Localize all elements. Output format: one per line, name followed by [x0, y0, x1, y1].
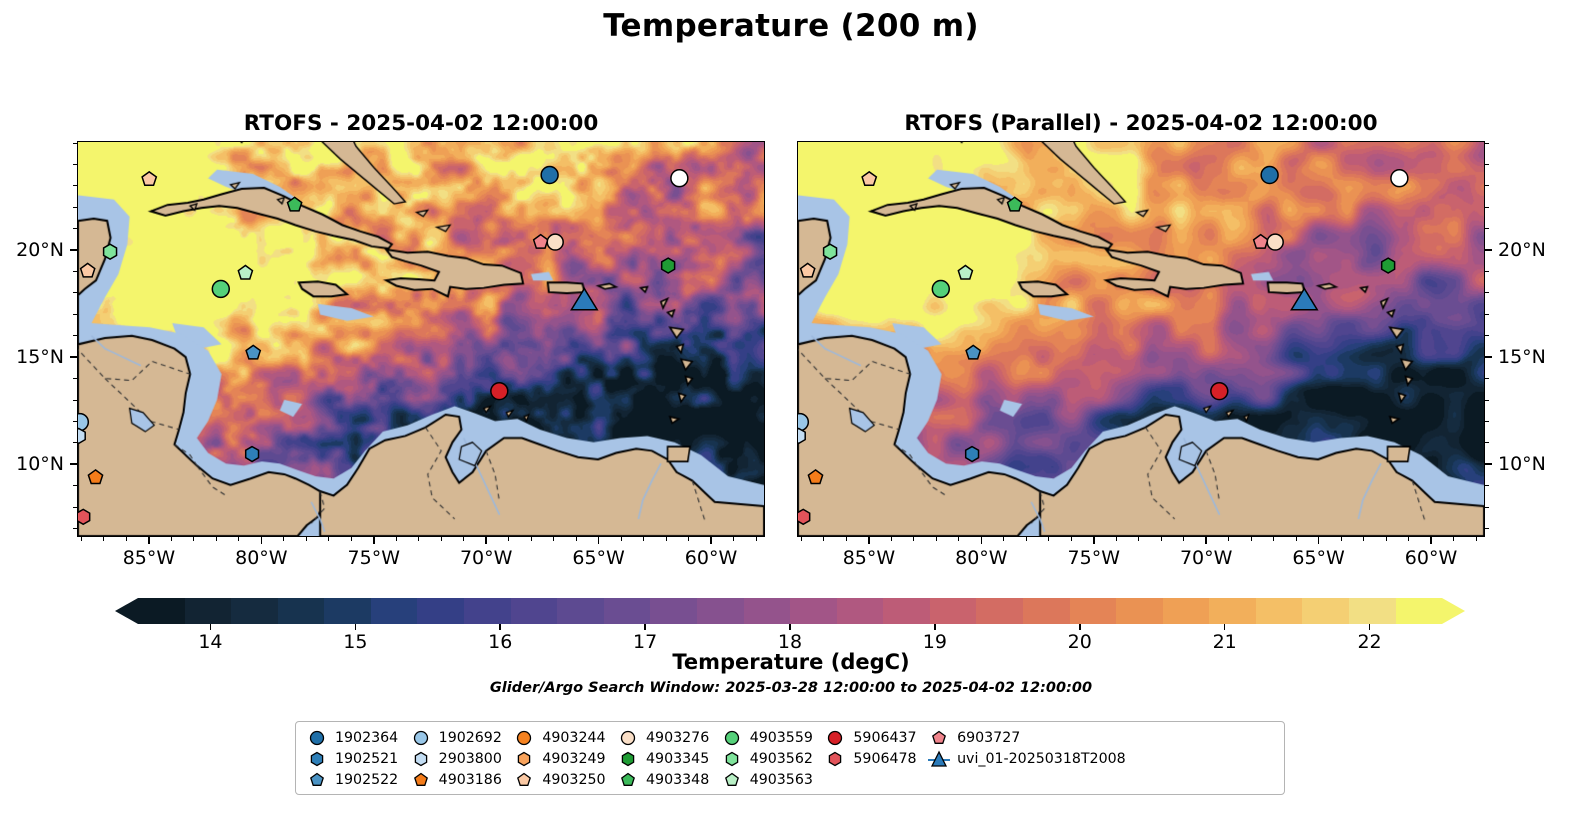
colorbar-segment — [976, 598, 1023, 624]
x-minor-tick — [958, 537, 959, 541]
colorbar-segment — [1023, 598, 1070, 624]
x-minor-tick — [688, 537, 689, 541]
marker-uvi_01-20250318T2008[interactable] — [571, 289, 597, 310]
legend-marker-circle-icon — [617, 728, 639, 747]
legend-label: 4903562 — [750, 751, 813, 767]
y-tick — [70, 463, 77, 465]
marker-6903727[interactable] — [534, 235, 548, 249]
x-tick — [981, 537, 983, 544]
marker-4903563[interactable] — [238, 265, 252, 279]
marker-4903276[interactable] — [671, 170, 688, 187]
legend-marker-hexagon-icon — [513, 749, 535, 768]
x-minor-tick — [103, 537, 104, 541]
y-minor-tick — [1485, 314, 1489, 315]
legend-item-4903244[interactable]: 4903244 — [513, 727, 617, 748]
x-minor-tick — [418, 537, 419, 541]
y-minor-tick — [1485, 228, 1489, 229]
y-minor-tick — [73, 164, 77, 165]
x-minor-tick — [1003, 537, 1004, 541]
colorbar-segment — [557, 598, 604, 624]
colorbar-segment — [1396, 598, 1443, 624]
colorbar-segment — [231, 598, 278, 624]
y-minor-tick — [73, 185, 77, 186]
colorbar-segment — [1070, 598, 1117, 624]
colorbar-segment — [650, 598, 697, 624]
marker-4903186[interactable] — [88, 470, 102, 484]
x-tick-label: 80°W — [955, 547, 1007, 569]
legend-item-5906437[interactable]: 5906437 — [824, 727, 928, 748]
legend-label: 5906478 — [853, 751, 916, 767]
colorbar-segment — [790, 598, 837, 624]
y-tick-label: 20°N — [16, 239, 64, 261]
x-minor-tick — [576, 537, 577, 541]
marker-4903348[interactable] — [1007, 197, 1021, 211]
y-minor-tick — [1485, 442, 1489, 443]
y-tick — [70, 356, 77, 358]
x-minor-tick — [126, 537, 127, 541]
x-tick — [710, 537, 712, 544]
colorbar-segment — [371, 598, 418, 624]
colorbar-segment — [1302, 598, 1349, 624]
legend-marker-circle-icon — [721, 728, 743, 747]
x-tick-label: 70°W — [1180, 547, 1232, 569]
x-tick — [148, 537, 150, 544]
x-tick-label: 75°W — [1068, 547, 1120, 569]
legend-item-4903348[interactable]: 4903348 — [617, 769, 721, 790]
colorbar-tick — [499, 624, 501, 630]
colorbar-segment — [744, 598, 791, 624]
legend-label: 5906437 — [853, 730, 916, 746]
y-minor-tick — [73, 335, 77, 336]
legend-marker-circle-icon — [410, 728, 432, 747]
colorbar-tick — [355, 624, 357, 630]
y-tick — [1485, 463, 1492, 465]
y-minor-tick — [73, 528, 77, 529]
colorbar-segment — [324, 598, 371, 624]
y-minor-tick — [73, 228, 77, 229]
marker-4903250b[interactable] — [81, 263, 95, 277]
x-minor-tick — [1408, 537, 1409, 541]
legend-marker-pentagon-icon — [410, 770, 432, 789]
y-minor-tick — [73, 507, 77, 508]
x-tick-label: 70°W — [460, 547, 512, 569]
y-minor-tick — [1485, 528, 1489, 529]
x-minor-tick — [936, 537, 937, 541]
legend-marker-glider-triangle-icon — [928, 749, 950, 768]
y-minor-tick — [73, 292, 77, 293]
marker-4903559[interactable] — [932, 280, 949, 297]
x-minor-tick — [756, 537, 757, 541]
x-tick-label: 60°W — [685, 547, 737, 569]
marker-1902692[interactable] — [78, 414, 88, 431]
y-tick — [1485, 356, 1492, 358]
y-minor-tick — [73, 400, 77, 401]
x-minor-tick — [1183, 537, 1184, 541]
x-minor-tick — [1026, 537, 1027, 541]
legend-label: 4903276 — [646, 730, 709, 746]
x-tick — [1093, 537, 1095, 544]
x-minor-tick — [1116, 537, 1117, 541]
legend-item-4903562[interactable]: 4903562 — [721, 748, 825, 769]
colorbar-extend-low — [115, 598, 138, 624]
colorbar-segment — [511, 598, 558, 624]
y-tick — [70, 249, 77, 251]
x-minor-tick — [553, 537, 554, 541]
y-minor-tick — [1485, 335, 1489, 336]
legend-marker-hexagon-icon — [617, 749, 639, 768]
y-minor-tick — [1485, 185, 1489, 186]
y-tick-label: 10°N — [1498, 453, 1546, 475]
x-minor-tick — [238, 537, 239, 541]
x-tick — [485, 537, 487, 544]
marker-5906437[interactable] — [1211, 383, 1228, 400]
marker-5906437[interactable] — [491, 383, 508, 400]
legend-item-1902521[interactable]: 1902521 — [306, 748, 410, 769]
marker-4903563[interactable] — [958, 265, 972, 279]
legend-marker-circle-icon — [306, 728, 328, 747]
legend-item-6903727[interactable]: 6903727 — [928, 727, 1126, 748]
legend-marker-pentagon-icon — [617, 770, 639, 789]
legend-label: 4903559 — [750, 730, 813, 746]
y-minor-tick — [1485, 271, 1489, 272]
marker-4903345[interactable] — [662, 258, 675, 273]
colorbar-segment — [464, 598, 511, 624]
colorbar-tick — [1369, 624, 1371, 630]
colorbar-segment — [278, 598, 325, 624]
legend-label: 1902521 — [335, 751, 398, 767]
x-tick — [1318, 537, 1320, 544]
map-panel-rtofs-parallel[interactable] — [797, 141, 1485, 537]
y-minor-tick — [1485, 378, 1489, 379]
legend-marker-pentagon-icon — [721, 770, 743, 789]
marker-4903276b[interactable] — [1267, 234, 1283, 250]
legend-item-1902364[interactable]: 1902364 — [306, 727, 410, 748]
marker-4903348[interactable] — [287, 197, 301, 211]
legend-label: uvi_01-20250318T2008 — [957, 751, 1126, 767]
x-minor-tick — [351, 537, 352, 541]
figure-canvas: Temperature (200 m) RTOFS - 2025-04-02 1… — [0, 0, 1582, 827]
legend-label: 4903250 — [542, 772, 605, 788]
marker-4903559[interactable] — [212, 280, 229, 297]
y-tick — [1485, 249, 1492, 251]
y-minor-tick — [73, 442, 77, 443]
x-tick-label: 80°W — [235, 547, 287, 569]
colorbar-gradient — [138, 598, 1442, 624]
colorbar-segment — [185, 598, 232, 624]
legend-marker-hexagon-icon — [410, 749, 432, 768]
legend-marker-circle-icon — [513, 728, 535, 747]
x-minor-tick — [193, 537, 194, 541]
legend-marker-pentagon-icon — [513, 770, 535, 789]
colorbar-segment — [417, 598, 464, 624]
marker-4903186[interactable] — [808, 470, 822, 484]
x-minor-tick — [1363, 537, 1364, 541]
marker-overlay-rtofs — [78, 142, 764, 536]
marker-overlay-rtofs-parallel — [798, 142, 1484, 536]
y-minor-tick — [1485, 292, 1489, 293]
legend-item-4903249[interactable]: 4903249 — [513, 748, 617, 769]
x-minor-tick — [283, 537, 284, 541]
legend-item-5906478[interactable]: 5906478 — [824, 748, 928, 769]
x-minor-tick — [891, 537, 892, 541]
y-tick-label: 15°N — [16, 346, 64, 368]
marker-6903727[interactable] — [1254, 235, 1268, 249]
marker-1902522[interactable] — [966, 345, 980, 359]
colorbar-segment — [930, 598, 977, 624]
y-minor-tick — [1485, 143, 1489, 144]
legend-marker-hexagon-icon — [721, 749, 743, 768]
colorbar-segment — [837, 598, 884, 624]
colorbar-extend-high — [1442, 598, 1465, 624]
legend-label: 4903563 — [750, 772, 813, 788]
x-minor-tick — [1453, 537, 1454, 541]
legend-label: 4903186 — [439, 772, 502, 788]
panel-title-rtofs-parallel: RTOFS (Parallel) - 2025-04-02 12:00:00 — [797, 111, 1485, 136]
legend-grid: 1902364190269249032444903276490355959064… — [306, 727, 1276, 790]
legend-marker-circle-icon — [824, 728, 846, 747]
marker-4903562[interactable] — [824, 244, 837, 259]
marker-4903250[interactable] — [142, 172, 156, 185]
colorbar-tick — [210, 624, 212, 630]
colorbar-segment — [1349, 598, 1396, 624]
colorbar[interactable] — [115, 598, 1465, 624]
colorbar-segment — [604, 598, 651, 624]
legend-marker-hexagon-icon — [306, 749, 328, 768]
x-minor-tick — [846, 537, 847, 541]
x-minor-tick — [1341, 537, 1342, 541]
legend-item-4903250[interactable]: 4903250 — [513, 769, 617, 790]
x-minor-tick — [1048, 537, 1049, 541]
x-minor-tick — [463, 537, 464, 541]
x-minor-tick — [1296, 537, 1297, 541]
x-minor-tick — [621, 537, 622, 541]
marker-2903800[interactable] — [798, 428, 805, 443]
y-minor-tick — [73, 378, 77, 379]
x-minor-tick — [1161, 537, 1162, 541]
search-window-note: Glider/Argo Search Window: 2025-03-28 12… — [0, 680, 1582, 696]
x-minor-tick — [328, 537, 329, 541]
marker-1902692[interactable] — [798, 414, 808, 431]
legend-label: 4903348 — [646, 772, 709, 788]
legend-label: 1902692 — [439, 730, 502, 746]
x-tick-label: 85°W — [843, 547, 895, 569]
marker-1902364[interactable] — [1261, 167, 1278, 184]
x-minor-tick — [823, 537, 824, 541]
y-minor-tick — [1485, 421, 1489, 422]
x-minor-tick — [1476, 537, 1477, 541]
marker-5906478[interactable] — [78, 509, 90, 524]
legend-label: 4903244 — [542, 730, 605, 746]
legend-label: 4903345 — [646, 751, 709, 767]
colorbar-segment — [1209, 598, 1256, 624]
x-tick-label: 65°W — [1292, 547, 1344, 569]
marker-4903562[interactable] — [104, 244, 117, 259]
colorbar-segment — [883, 598, 930, 624]
marker-4903250[interactable] — [862, 172, 876, 185]
x-tick — [868, 537, 870, 544]
y-minor-tick — [1485, 400, 1489, 401]
legend-label: 2903800 — [439, 751, 502, 767]
y-minor-tick — [73, 314, 77, 315]
legend-marker-pentagon-icon — [928, 728, 950, 747]
y-minor-tick — [73, 271, 77, 272]
x-tick-label: 65°W — [572, 547, 624, 569]
x-minor-tick — [801, 537, 802, 541]
y-minor-tick — [73, 207, 77, 208]
legend-label: 6903727 — [957, 730, 1020, 746]
x-minor-tick — [441, 537, 442, 541]
legend-item-4903186[interactable]: 4903186 — [410, 769, 514, 790]
marker-5906478[interactable] — [798, 509, 810, 524]
x-tick — [598, 537, 600, 544]
legend-item-4903345[interactable]: 4903345 — [617, 748, 721, 769]
x-minor-tick — [81, 537, 82, 541]
colorbar-tick — [644, 624, 646, 630]
x-minor-tick — [1251, 537, 1252, 541]
panel-title-rtofs: RTOFS - 2025-04-02 12:00:00 — [77, 111, 765, 136]
marker-4903345[interactable] — [1382, 258, 1395, 273]
colorbar-label: Temperature (degC) — [0, 650, 1582, 674]
legend-item-1902692[interactable]: 1902692 — [410, 727, 514, 748]
y-tick-label: 20°N — [1498, 239, 1546, 261]
x-tick — [373, 537, 375, 544]
colorbar-tick — [1079, 624, 1081, 630]
legend-item-2903800[interactable]: 2903800 — [410, 748, 514, 769]
y-minor-tick — [1485, 164, 1489, 165]
x-tick-label: 60°W — [1405, 547, 1457, 569]
legend-item-4903276[interactable]: 4903276 — [617, 727, 721, 748]
x-minor-tick — [171, 537, 172, 541]
legend-marker-hexagon-icon — [824, 749, 846, 768]
y-minor-tick — [73, 485, 77, 486]
x-minor-tick — [666, 537, 667, 541]
colorbar-segment — [1256, 598, 1303, 624]
x-minor-tick — [396, 537, 397, 541]
x-tick-label: 85°W — [123, 547, 175, 569]
legend-item-uvi_01-20250318T2008[interactable]: uvi_01-20250318T2008 — [928, 748, 1126, 769]
colorbar-segment — [697, 598, 744, 624]
y-minor-tick — [73, 421, 77, 422]
marker-4903276[interactable] — [1391, 170, 1408, 187]
marker-1902521[interactable] — [966, 447, 979, 462]
x-tick — [261, 537, 263, 544]
colorbar-segment — [1116, 598, 1163, 624]
x-tick — [1205, 537, 1207, 544]
page-title: Temperature (200 m) — [0, 8, 1582, 44]
x-minor-tick — [306, 537, 307, 541]
legend-label: 1902364 — [335, 730, 398, 746]
x-minor-tick — [1228, 537, 1229, 541]
x-minor-tick — [913, 537, 914, 541]
colorbar-tick — [934, 624, 936, 630]
x-tick — [1430, 537, 1432, 544]
marker-uvi_01-20250318T2008[interactable] — [1291, 289, 1317, 310]
legend-label: 1902522 — [335, 772, 398, 788]
legend-item-1902522[interactable]: 1902522 — [306, 769, 410, 790]
x-minor-tick — [531, 537, 532, 541]
x-minor-tick — [1071, 537, 1072, 541]
legend-marker-pentagon-icon — [306, 770, 328, 789]
map-panel-rtofs[interactable] — [77, 141, 765, 537]
y-tick-label: 15°N — [1498, 346, 1546, 368]
marker-4903250b[interactable] — [801, 263, 815, 277]
marker-1902521[interactable] — [246, 447, 259, 462]
legend-item-4903559[interactable]: 4903559 — [721, 727, 825, 748]
x-minor-tick — [1386, 537, 1387, 541]
legend-item-4903563[interactable]: 4903563 — [721, 769, 825, 790]
colorbar-tick — [1224, 624, 1226, 630]
y-minor-tick — [73, 143, 77, 144]
colorbar-segment — [1163, 598, 1210, 624]
colorbar-segment — [138, 598, 185, 624]
marker-1902522[interactable] — [246, 345, 260, 359]
x-minor-tick — [216, 537, 217, 541]
x-minor-tick — [643, 537, 644, 541]
y-minor-tick — [1485, 207, 1489, 208]
colorbar-tick — [789, 624, 791, 630]
x-minor-tick — [1273, 537, 1274, 541]
y-tick-label: 10°N — [16, 453, 64, 475]
marker-4903276b[interactable] — [547, 234, 563, 250]
x-minor-tick — [1138, 537, 1139, 541]
marker-2903800[interactable] — [78, 428, 85, 443]
x-minor-tick — [508, 537, 509, 541]
legend-box[interactable]: 1902364190269249032444903276490355959064… — [295, 721, 1285, 795]
y-minor-tick — [1485, 507, 1489, 508]
y-minor-tick — [1485, 485, 1489, 486]
x-minor-tick — [733, 537, 734, 541]
x-tick-label: 75°W — [348, 547, 400, 569]
legend-label: 4903249 — [542, 751, 605, 767]
marker-1902364[interactable] — [541, 167, 558, 184]
